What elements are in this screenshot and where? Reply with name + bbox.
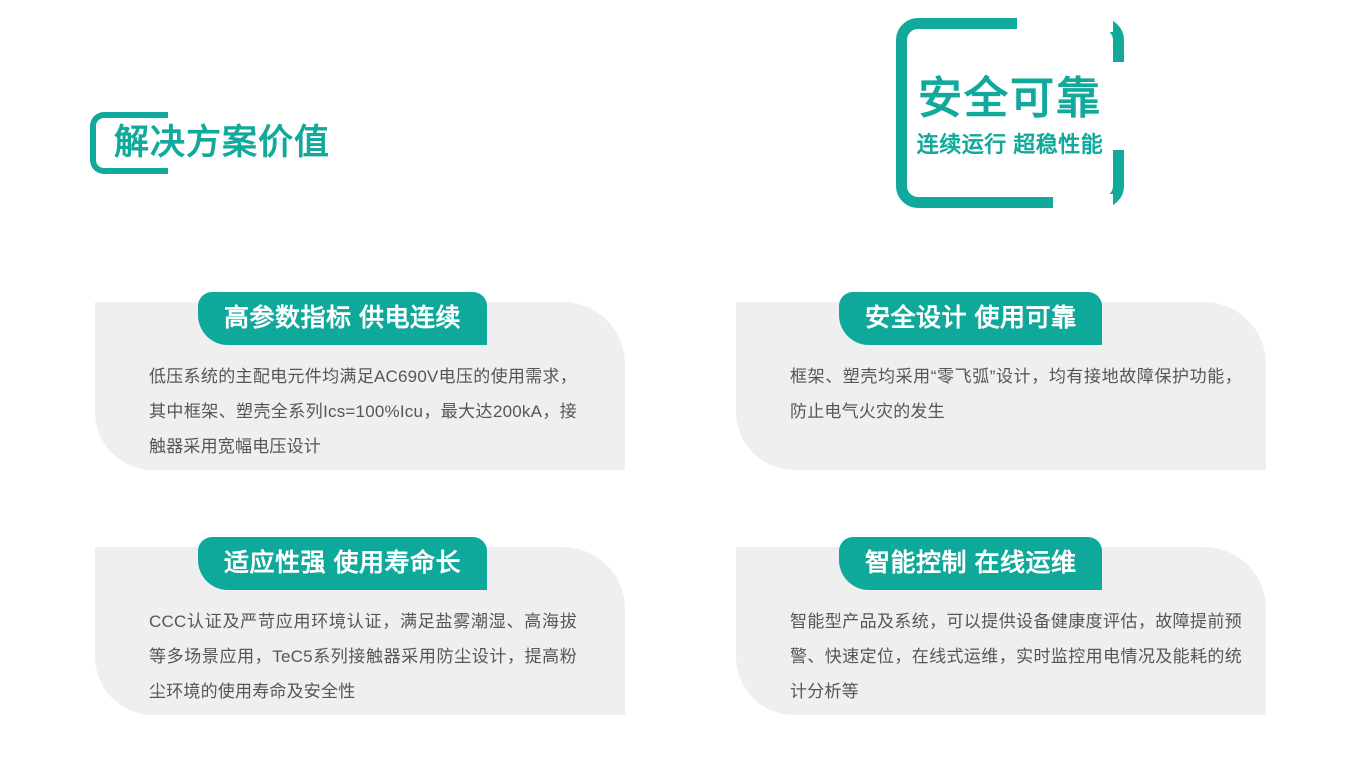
value-card: 适应性强 使用寿命长 CCC认证及严苛应用环境认证，满足盐雾潮湿、高海拔等多场景… bbox=[95, 547, 625, 715]
value-card-title: 智能控制 在线运维 bbox=[839, 537, 1102, 590]
page-title: 解决方案价值 bbox=[90, 110, 510, 190]
value-card: 智能控制 在线运维 智能型产品及系统，可以提供设备健康度评估，故障提前预警、快速… bbox=[736, 547, 1266, 715]
badge-title: 安全可靠 bbox=[896, 74, 1124, 124]
value-card-title: 安全设计 使用可靠 bbox=[839, 292, 1102, 345]
value-card-title: 高参数指标 供电连续 bbox=[198, 292, 487, 345]
badge-subtitle: 连续运行 超稳性能 bbox=[896, 131, 1124, 159]
value-card: 安全设计 使用可靠 框架、塑壳均采用“零飞弧”设计，均有接地故障保护功能，防止电… bbox=[736, 302, 1266, 470]
page-title-text: 解决方案价值 bbox=[114, 115, 330, 171]
value-card-title: 适应性强 使用寿命长 bbox=[198, 537, 487, 590]
value-card-body: 低压系统的主配电元件均满足AC690V电压的使用需求，其中框架、塑壳全系列Ics… bbox=[149, 359, 577, 464]
value-card-body: CCC认证及严苛应用环境认证，满足盐雾潮湿、高海拔等多场景应用，TeC5系列接触… bbox=[149, 604, 577, 709]
value-card: 高参数指标 供电连续 低压系统的主配电元件均满足AC690V电压的使用需求，其中… bbox=[95, 302, 625, 470]
slide-canvas: 解决方案价值 安全可靠 连续运行 超稳性能 高参数指标 供电连续 低压系统的主配… bbox=[0, 0, 1350, 782]
badge-frame-notch-top bbox=[1017, 18, 1113, 32]
value-card-body: 智能型产品及系统，可以提供设备健康度评估，故障提前预警、快速定位，在线式运维，实… bbox=[790, 604, 1242, 709]
reliability-badge: 安全可靠 连续运行 超稳性能 bbox=[896, 18, 1124, 208]
badge-frame-notch-bottom bbox=[1053, 194, 1113, 208]
value-card-body: 框架、塑壳均采用“零飞弧”设计，均有接地故障保护功能，防止电气火灾的发生 bbox=[790, 359, 1242, 429]
